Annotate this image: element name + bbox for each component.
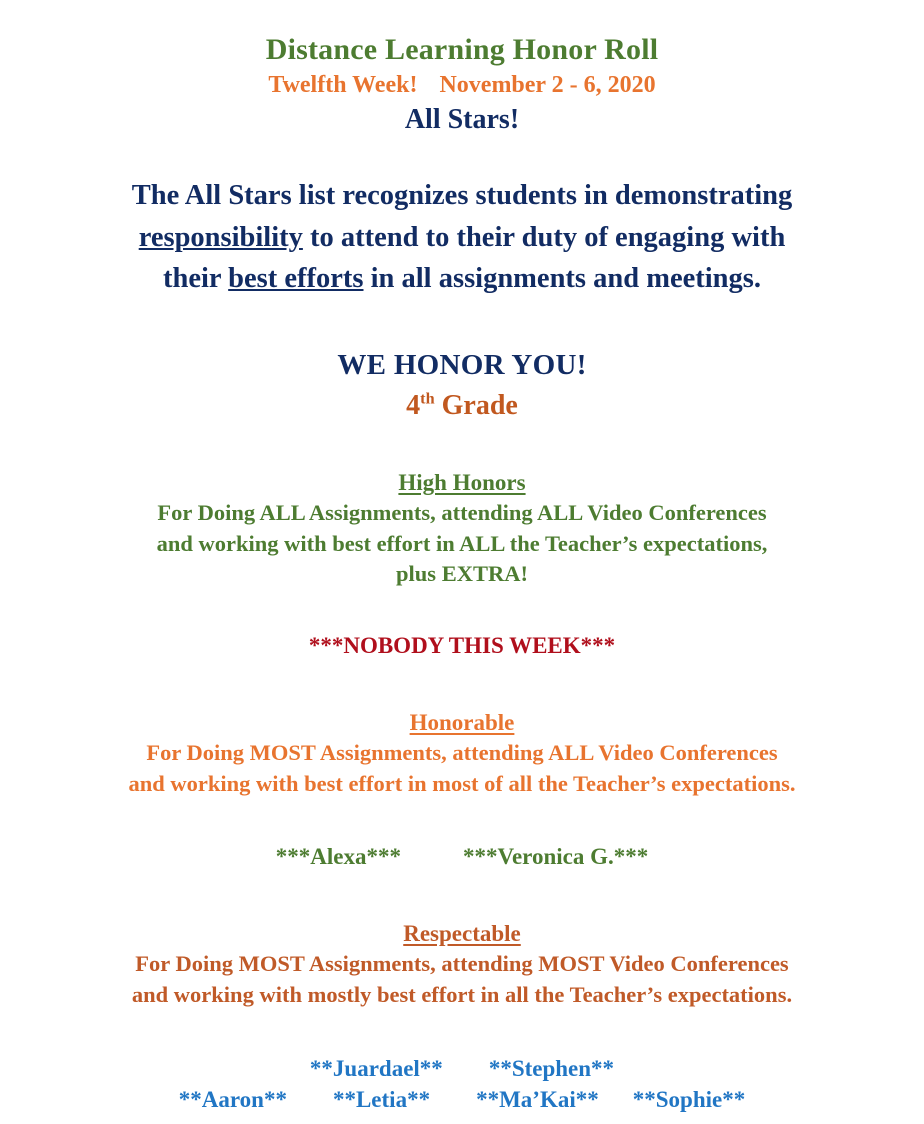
desc-line-3: plus EXTRA!: [22, 559, 902, 589]
intro-emphasis-responsibility: responsibility: [139, 222, 303, 253]
student-name: ***Alexa***: [276, 841, 401, 872]
subtitle-week: Twelfth Week!: [268, 72, 417, 98]
section-high-honors: High Honors For Doing ALL Assignments, a…: [0, 469, 924, 661]
section-title-honorable: Honorable: [0, 709, 924, 737]
names-row-respectable-2: **Aaron****Letia****Ma’Kai****Sophie**: [0, 1084, 924, 1115]
we-honor-you-heading: WE HONOR YOU!: [0, 348, 924, 383]
grade-heading: 4th Grade: [0, 389, 924, 423]
page-title: Distance Learning Honor Roll: [0, 0, 924, 67]
student-name: **Stephen**: [489, 1053, 614, 1084]
student-name: **Aaron**: [179, 1084, 287, 1115]
subtitle-line: Twelfth Week!November 2 - 6, 2020: [0, 71, 924, 100]
desc-line-1: For Doing MOST Assignments, attending AL…: [22, 738, 902, 768]
intro-paragraph: The All Stars list recognizes students i…: [47, 175, 877, 300]
student-name: ***Veronica G.***: [463, 841, 648, 872]
section-description-high-honors: For Doing ALL Assignments, attending ALL…: [22, 498, 902, 589]
student-name: **Ma’Kai**: [476, 1084, 599, 1115]
section-title-respectable: Respectable: [0, 920, 924, 948]
names-row-respectable-1: **Juardael****Stephen**: [0, 1053, 924, 1084]
section-honorable: Honorable For Doing MOST Assignments, at…: [0, 709, 924, 872]
intro-line-2: responsibility to attend to their duty o…: [47, 217, 877, 259]
student-name: **Letia**: [333, 1084, 430, 1115]
names-row-honorable: ***Alexa******Veronica G.***: [0, 841, 924, 872]
section-description-respectable: For Doing MOST Assignments, attending MO…: [22, 949, 902, 1010]
desc-line-1: For Doing ALL Assignments, attending ALL…: [22, 498, 902, 528]
intro-line-3: their best efforts in all assignments an…: [47, 258, 877, 300]
grade-ordinal: th: [420, 389, 434, 407]
desc-line-2: and working with best effort in ALL the …: [22, 529, 902, 559]
subtitle-dates: November 2 - 6, 2020: [439, 72, 655, 98]
grade-word: Grade: [442, 390, 518, 421]
section-respectable: Respectable For Doing MOST Assignments, …: [0, 920, 924, 1115]
honor-roll-document: Distance Learning Honor Roll Twelfth Wee…: [0, 0, 924, 1124]
names-row-high-honors: ***NOBODY THIS WEEK***: [0, 630, 924, 661]
section-title-high-honors: High Honors: [0, 469, 924, 497]
list-name-heading: All Stars!: [0, 103, 924, 137]
desc-line-1: For Doing MOST Assignments, attending MO…: [22, 949, 902, 979]
section-description-honorable: For Doing MOST Assignments, attending AL…: [22, 738, 902, 799]
desc-line-2: and working with mostly best effort in a…: [22, 980, 902, 1010]
intro-emphasis-best-efforts: best efforts: [228, 263, 363, 294]
desc-line-2: and working with best effort in most of …: [22, 769, 902, 799]
student-name: **Sophie**: [633, 1084, 745, 1115]
student-name: **Juardael**: [310, 1053, 443, 1084]
intro-line-1: The All Stars list recognizes students i…: [47, 175, 877, 217]
grade-number: 4: [406, 390, 420, 421]
student-name: ***NOBODY THIS WEEK***: [309, 630, 615, 661]
